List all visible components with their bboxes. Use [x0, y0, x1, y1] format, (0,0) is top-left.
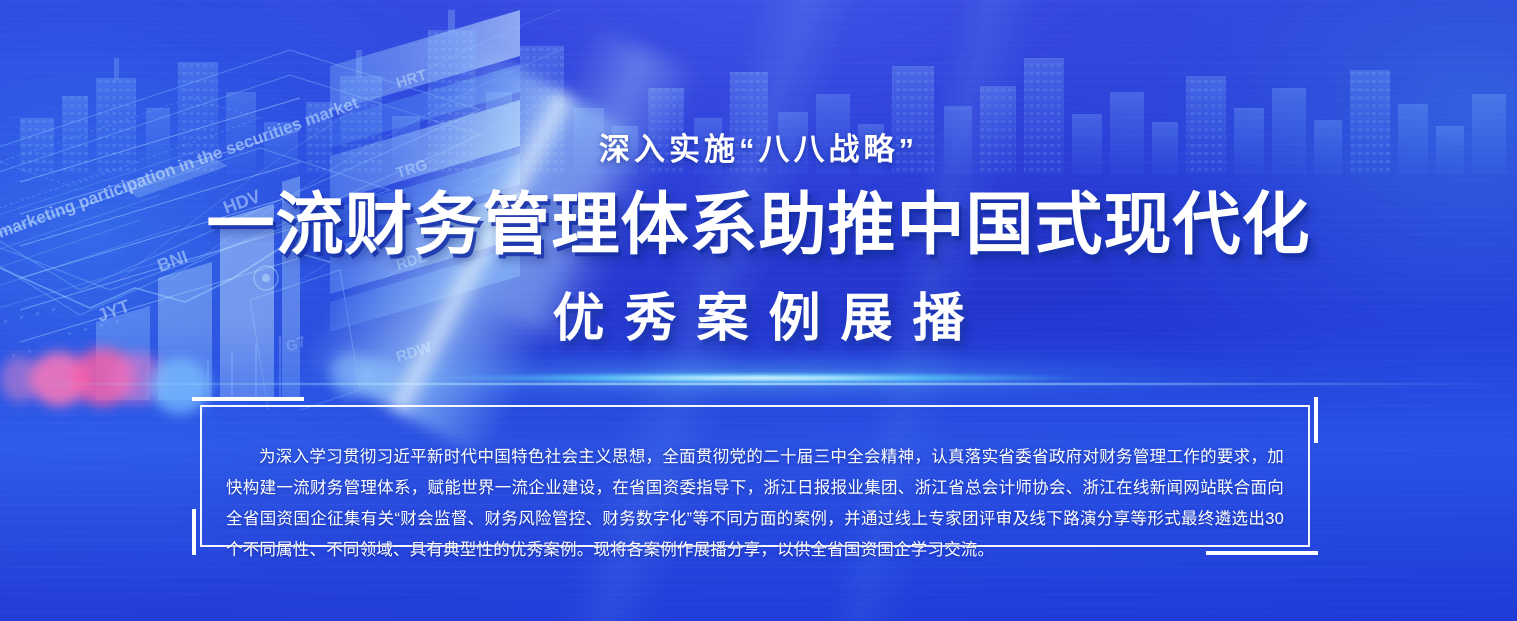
frame-corner-top-right [1314, 397, 1318, 443]
description-frame: 为深入学习贯彻习近平新时代中国特色社会主义思想，全面贯彻党的二十届三中全会精神，… [200, 405, 1310, 547]
banner-kicker: 深入实施“八八战略” [0, 124, 1517, 169]
banner-subheadline: 优秀案例展播 [0, 291, 1517, 348]
description-paragraph: 为深入学习贯彻习近平新时代中国特色社会主义思想，全面贯彻党的二十届三中全会精神，… [226, 442, 1284, 566]
promo-banner: G7 [0, 0, 1517, 621]
banner-content: 深入实施“八八战略” 一流财务管理体系助推中国式现代化 优秀案例展播 为深入学习… [0, 0, 1517, 621]
frame-corner-top-left [192, 397, 304, 401]
banner-headline: 一流财务管理体系助推中国式现代化 [0, 191, 1517, 259]
frame-corner-bottom-left [192, 509, 196, 555]
